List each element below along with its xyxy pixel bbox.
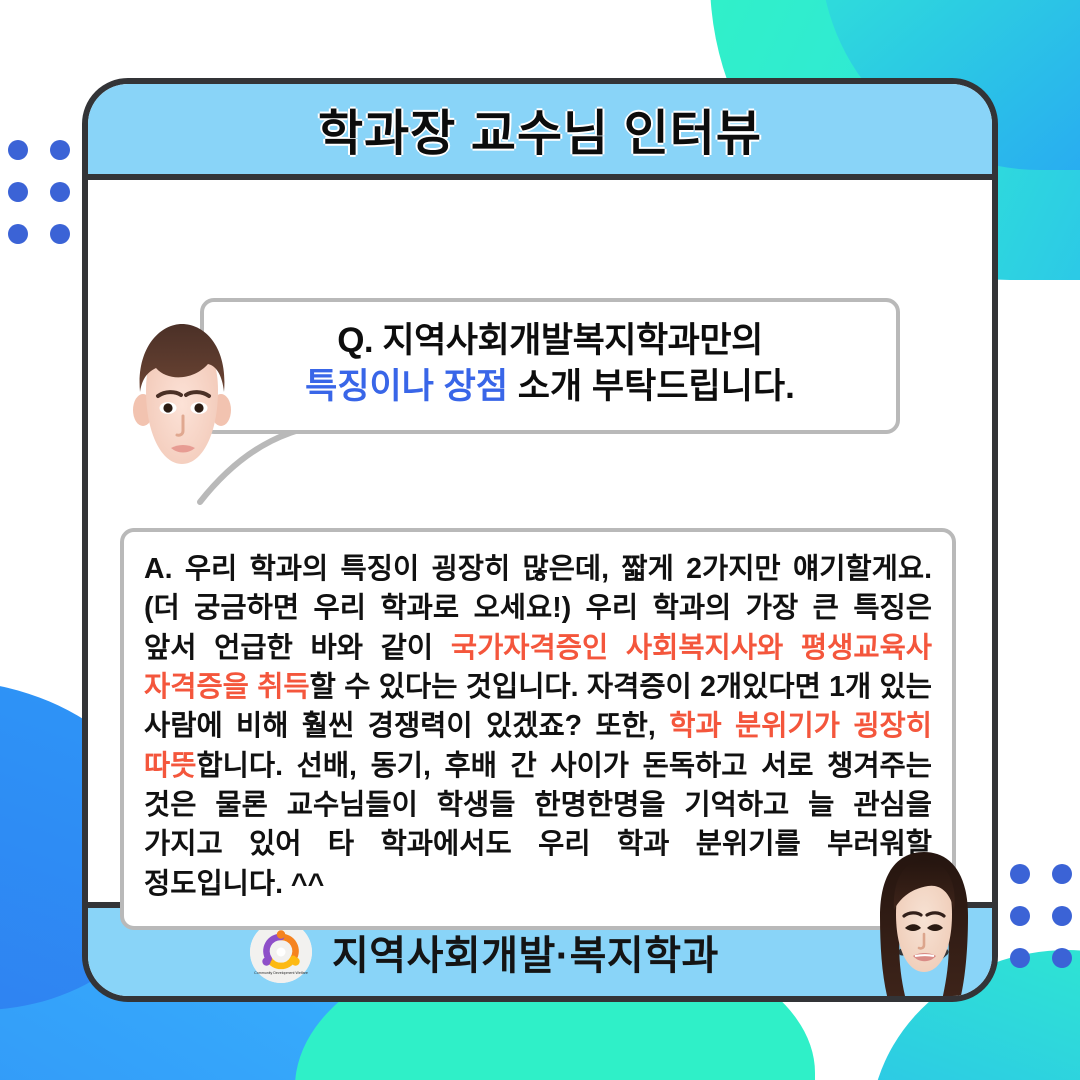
decor-dot (1052, 906, 1072, 926)
decor-dot (50, 182, 70, 202)
card-header: 학과장 교수님 인터뷰 (88, 84, 992, 180)
decor-dot (8, 140, 28, 160)
answer-text: A. 우리 학과의 특징이 굉장히 많은데, 짧게 2가지만 얘기할게요. (더… (144, 550, 932, 904)
question-line-2-rest: 소개 부탁드립니다. (508, 367, 795, 406)
interview-card: 학과장 교수님 인터뷰 Q. 지역사회개발복지학과만의 특징이나 장점 소개 부… (82, 78, 998, 1002)
card-canvas: 학과장 교수님 인터뷰 Q. 지역사회개발복지학과만의 특징이나 장점 소개 부… (0, 0, 1080, 1080)
card-body: Q. 지역사회개발복지학과만의 특징이나 장점 소개 부탁드립니다. (88, 180, 992, 902)
question-highlight: 특징이나 장점 (305, 367, 508, 406)
decor-dot (1010, 906, 1030, 926)
student-portrait (116, 312, 248, 480)
decor-dot (1052, 948, 1072, 968)
department-name: 지역사회개발·복지학과 (332, 923, 719, 981)
svg-text:Community Development Welfare: Community Development Welfare (254, 971, 308, 975)
decor-dot (1052, 864, 1072, 884)
decor-dot (50, 140, 70, 160)
decor-dot (1010, 864, 1030, 884)
community-welfare-logo-icon: Community Development Welfare (250, 921, 312, 983)
question-line-2: 특징이나 장점 소개 부탁드립니다. (226, 364, 874, 410)
answer-bubble: A. 우리 학과의 특징이 굉장히 많은데, 짧게 2가지만 얘기할게요. (더… (120, 528, 956, 930)
answer-segment-3: 합니다. 선배, 동기, 후배 간 사이가 돈독하고 서로 챙겨주는 것은 물론… (144, 750, 932, 900)
page-title: 학과장 교수님 인터뷰 (318, 94, 762, 165)
professor-portrait (870, 844, 978, 1002)
decor-dot (8, 224, 28, 244)
decor-dot (8, 182, 28, 202)
question-line-1: Q. 지역사회개발복지학과만의 (226, 318, 874, 364)
question-bubble: Q. 지역사회개발복지학과만의 특징이나 장점 소개 부탁드립니다. (200, 298, 900, 434)
decor-dot (50, 224, 70, 244)
decor-dot (1010, 948, 1030, 968)
